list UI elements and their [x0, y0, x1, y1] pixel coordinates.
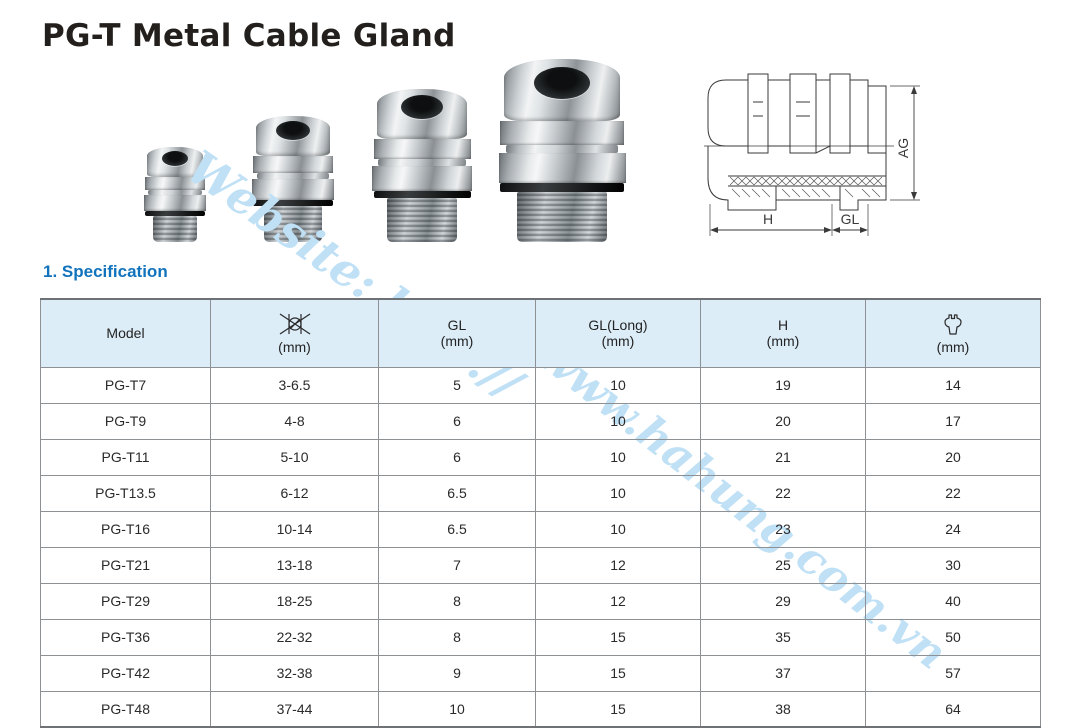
- section-heading-specification: 1. Specification: [43, 262, 168, 282]
- cell-model: PG-T29: [41, 583, 211, 619]
- product-photo-cable-gland-xlarge: [492, 59, 632, 242]
- cell-h: 23: [701, 511, 866, 547]
- cell-h: 20: [701, 403, 866, 439]
- column-header-gl-long-unit: (mm): [538, 333, 698, 349]
- cell-gl-long: 12: [536, 583, 701, 619]
- cell-model: PG-T36: [41, 619, 211, 655]
- cell-gl-long: 10: [536, 475, 701, 511]
- cell-diameter: 22-32: [211, 619, 379, 655]
- cell-diameter: 3-6.5: [211, 367, 379, 403]
- cell-gl: 10: [379, 691, 536, 727]
- cell-gl: 6: [379, 439, 536, 475]
- table-row: PG-T115-106102120: [41, 439, 1041, 475]
- cell-model: PG-T7: [41, 367, 211, 403]
- cell-diameter: 32-38: [211, 655, 379, 691]
- table-row: PG-T94-86102017: [41, 403, 1041, 439]
- table-row: PG-T13.56-126.5102222: [41, 475, 1041, 511]
- product-photo-cable-gland-small: [140, 147, 210, 242]
- cell-h: 21: [701, 439, 866, 475]
- product-photo-strip: [120, 62, 640, 242]
- cell-gl: 8: [379, 619, 536, 655]
- product-photo-cable-gland-medium: [245, 116, 341, 242]
- cell-gl: 9: [379, 655, 536, 691]
- technical-drawing: AG H GL: [690, 58, 940, 253]
- tech-label-ag: AG: [895, 138, 911, 158]
- cell-h: 22: [701, 475, 866, 511]
- cell-wrench: 30: [866, 547, 1041, 583]
- cell-h: 38: [701, 691, 866, 727]
- column-header-h-label: H: [703, 317, 863, 333]
- cell-h: 37: [701, 655, 866, 691]
- tech-label-h: H: [763, 211, 773, 227]
- cell-gl: 7: [379, 547, 536, 583]
- gland-bore-icon: [276, 121, 310, 140]
- gland-bore-icon: [534, 67, 590, 99]
- cell-diameter: 37-44: [211, 691, 379, 727]
- cell-model: PG-T11: [41, 439, 211, 475]
- cell-h: 35: [701, 619, 866, 655]
- cell-wrench: 24: [866, 511, 1041, 547]
- cell-model: PG-T9: [41, 403, 211, 439]
- cell-gl-long: 10: [536, 403, 701, 439]
- cell-diameter: 6-12: [211, 475, 379, 511]
- cell-gl-long: 10: [536, 439, 701, 475]
- cell-model: PG-T16: [41, 511, 211, 547]
- cell-wrench: 57: [866, 655, 1041, 691]
- cell-diameter: 5-10: [211, 439, 379, 475]
- cell-model: PG-T13.5: [41, 475, 211, 511]
- column-header-wrench-unit: (mm): [868, 339, 1038, 355]
- cell-gl: 6.5: [379, 475, 536, 511]
- column-header-gl-label: GL: [381, 317, 533, 333]
- cell-gl: 5: [379, 367, 536, 403]
- cell-model: PG-T48: [41, 691, 211, 727]
- wrench-icon: [868, 312, 1038, 338]
- cell-diameter: 10-14: [211, 511, 379, 547]
- cell-gl-long: 15: [536, 655, 701, 691]
- column-header-diameter: (mm): [211, 299, 379, 367]
- cell-gl: 6.5: [379, 511, 536, 547]
- column-header-h-unit: (mm): [703, 333, 863, 349]
- column-header-h: H (mm): [701, 299, 866, 367]
- cell-gl-long: 10: [536, 511, 701, 547]
- table-row: PG-T4232-389153757: [41, 655, 1041, 691]
- cell-model: PG-T21: [41, 547, 211, 583]
- table-header-row: Model (mm): [41, 299, 1041, 367]
- column-header-wrench: (mm): [866, 299, 1041, 367]
- cell-wrench: 50: [866, 619, 1041, 655]
- table-row: PG-T2918-258122940: [41, 583, 1041, 619]
- cell-wrench: 40: [866, 583, 1041, 619]
- column-header-model-label: Model: [43, 325, 208, 341]
- cell-wrench: 22: [866, 475, 1041, 511]
- cell-gl-long: 15: [536, 619, 701, 655]
- cell-wrench: 14: [866, 367, 1041, 403]
- cell-model: PG-T42: [41, 655, 211, 691]
- table-row: PG-T73-6.55101914: [41, 367, 1041, 403]
- column-header-gl-unit: (mm): [381, 333, 533, 349]
- table-row: PG-T2113-187122530: [41, 547, 1041, 583]
- cell-gl: 8: [379, 583, 536, 619]
- table-row: PG-T1610-146.5102324: [41, 511, 1041, 547]
- cell-wrench: 20: [866, 439, 1041, 475]
- column-header-gl: GL (mm): [379, 299, 536, 367]
- table-row: PG-T4837-4410153864: [41, 691, 1041, 727]
- gland-bore-icon: [401, 95, 443, 119]
- cell-diameter: 18-25: [211, 583, 379, 619]
- table-row: PG-T3622-328153550: [41, 619, 1041, 655]
- column-header-gl-long-label: GL(Long): [538, 317, 698, 333]
- cell-gl: 6: [379, 403, 536, 439]
- specification-table: Model (mm): [40, 298, 1041, 728]
- cell-diameter: 13-18: [211, 547, 379, 583]
- cell-h: 19: [701, 367, 866, 403]
- product-photo-cable-gland-large: [365, 89, 479, 242]
- cell-diameter: 4-8: [211, 403, 379, 439]
- gland-bore-icon: [162, 151, 188, 166]
- column-header-model: Model: [41, 299, 211, 367]
- cell-gl-long: 15: [536, 691, 701, 727]
- cell-h: 29: [701, 583, 866, 619]
- cell-wrench: 64: [866, 691, 1041, 727]
- page-title: PG-T Metal Cable Gland: [42, 18, 456, 54]
- cell-gl-long: 10: [536, 367, 701, 403]
- column-header-diameter-unit: (mm): [213, 339, 376, 355]
- diameter-icon: [213, 312, 376, 338]
- cell-gl-long: 12: [536, 547, 701, 583]
- cell-h: 25: [701, 547, 866, 583]
- cell-wrench: 17: [866, 403, 1041, 439]
- tech-label-gl: GL: [841, 211, 860, 227]
- column-header-gl-long: GL(Long) (mm): [536, 299, 701, 367]
